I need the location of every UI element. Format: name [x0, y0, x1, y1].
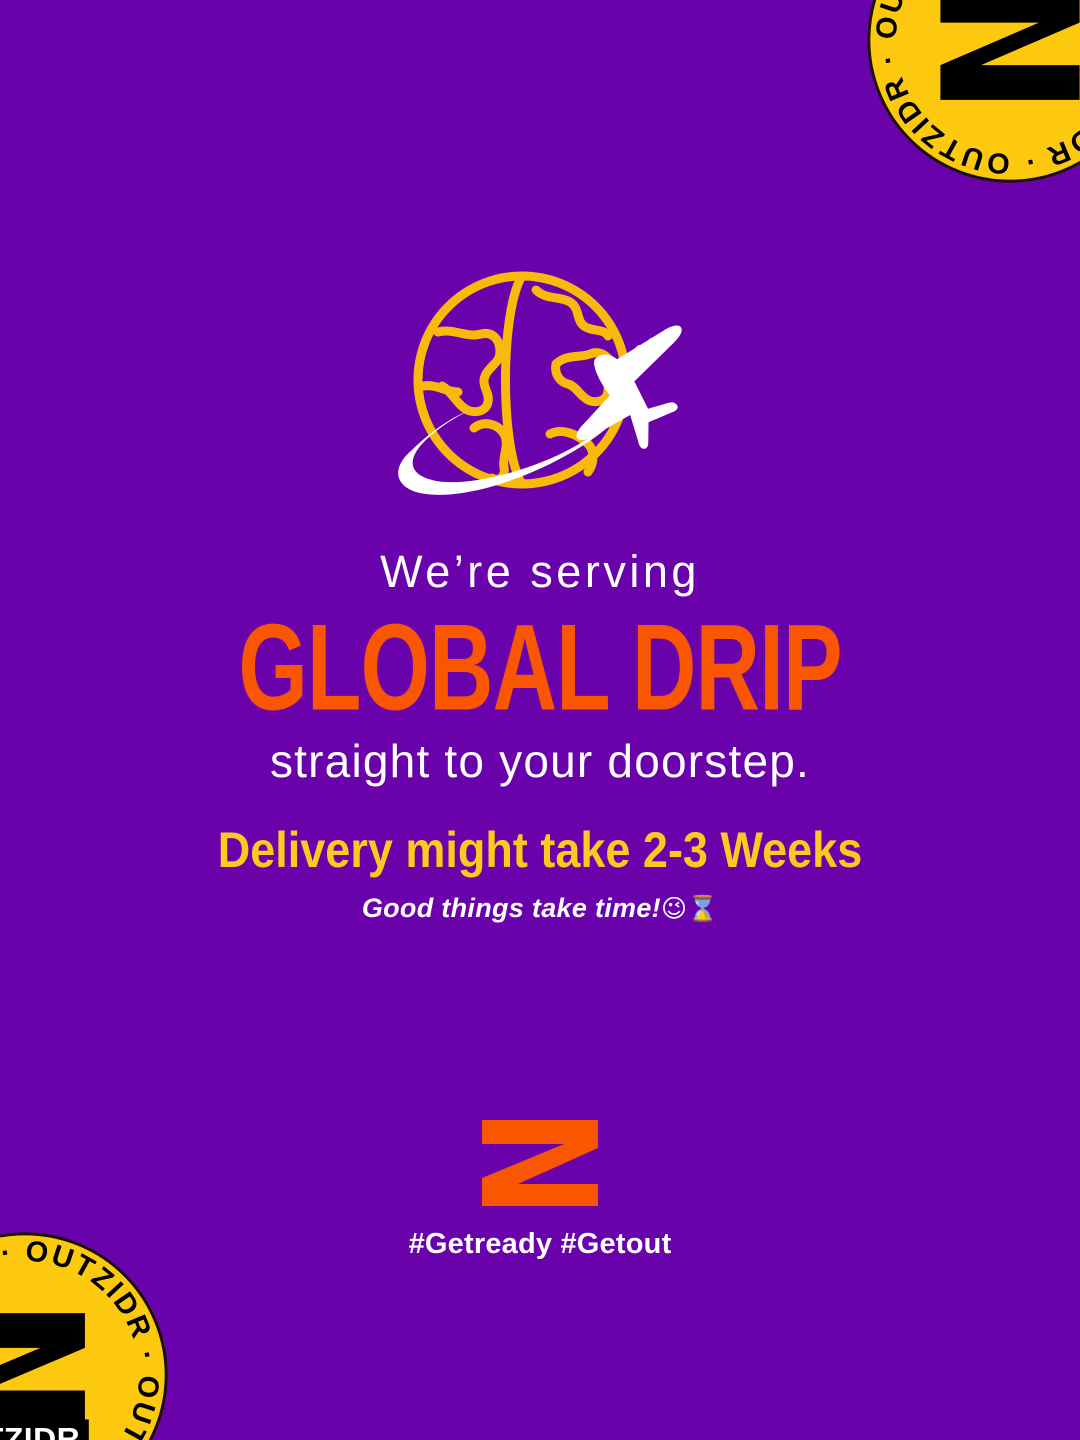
globe-airplane-icon	[350, 268, 730, 518]
line-doorstep: straight to your doorstep.	[0, 737, 1080, 785]
outzidr-z-logo	[478, 1118, 602, 1208]
headline-copy-block: We’re serving GLOBAL DRIP straight to yo…	[0, 548, 1080, 786]
poster-canvas: OUTZIDR · OUTZIDR · OUTZIDR · OUTZIDR · …	[0, 0, 1080, 1440]
sticker-center-wordmark: OUTZIDR	[0, 1420, 80, 1440]
outzidr-sticker-top-right: OUTZIDR · OUTZIDR · OUTZIDR · OUTZIDR ·	[865, 0, 1080, 185]
outzidr-sticker-bottom-left: OUTZIDR · OUTZIDR · OUTZIDR · OUTZIDR · …	[0, 1230, 170, 1440]
delivery-emoji: 😉⌛	[661, 894, 718, 923]
delivery-note-block: Delivery might take 2-3 Weeks Good thing…	[0, 822, 1080, 923]
delivery-subtext: Good things take time!😉⌛	[0, 894, 1080, 924]
brand-tagline: #Getready #Getout	[0, 1228, 1080, 1261]
line-serving: We’re serving	[0, 548, 1080, 595]
headline-global-drip: GLOBAL DRIP	[38, 607, 1042, 730]
delivery-subtext-label: Good things take time!	[362, 893, 661, 923]
delivery-headline: Delivery might take 2-3 Weeks	[0, 822, 1080, 877]
brand-footer: #Getready #Getout	[0, 1118, 1080, 1261]
